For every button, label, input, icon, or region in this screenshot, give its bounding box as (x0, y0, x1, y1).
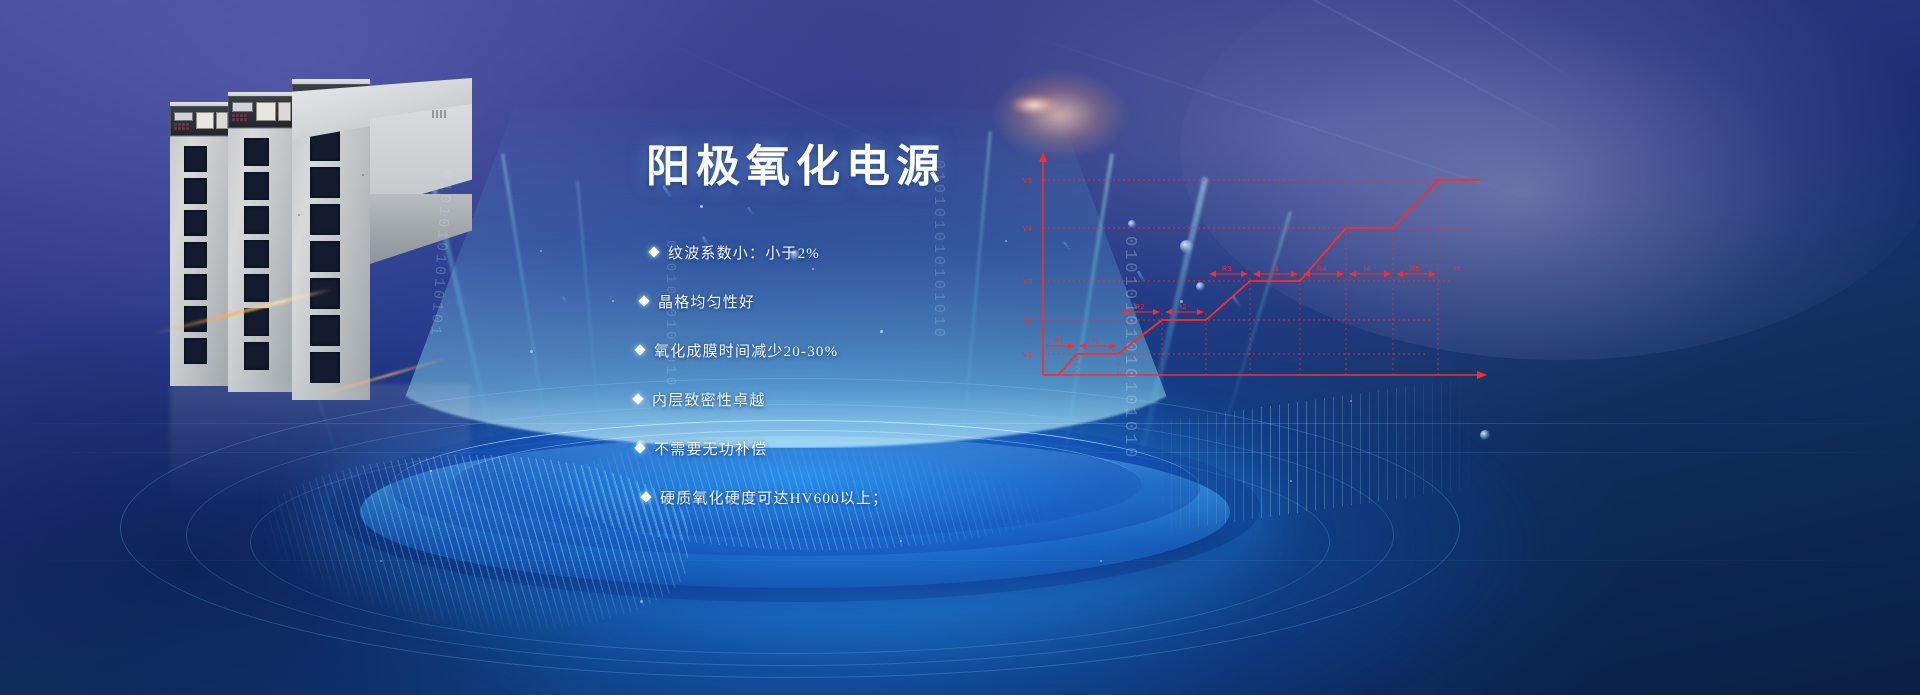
chart-seg-t1: t1 (1093, 338, 1100, 345)
light-ray (576, 181, 602, 450)
power-cabinet (228, 96, 296, 392)
diamond-bullet-icon (640, 293, 658, 310)
list-item: 不需要无功补偿 (636, 438, 1160, 459)
cabinet-logo-icon (432, 110, 446, 118)
diamond-bullet-icon (650, 244, 668, 261)
particle (612, 300, 614, 302)
list-item-label: 晶格均匀性好 (658, 291, 755, 312)
list-item-label: 纹波系数小：小于2% (668, 242, 820, 263)
lens-flare-core-icon (1010, 95, 1058, 115)
cabinet-right-face (370, 104, 472, 209)
power-cabinet-group (170, 84, 500, 504)
particle (640, 600, 643, 603)
hatch-pattern (1144, 378, 1486, 533)
particle (530, 350, 533, 353)
diamond-bullet-icon (634, 391, 652, 408)
chart-seg-r1: R1 (1054, 338, 1064, 345)
chart-seg-r4: R4 (1317, 266, 1327, 273)
diamond-bullet-icon (636, 342, 654, 359)
banner-root: 01010101010101 0101010101010 01010101010… (0, 0, 1920, 695)
chart-seg-r2: R2 (1135, 304, 1145, 311)
list-item-label: 硬质氧化硬度可达HV600以上； (660, 487, 888, 508)
list-item: 硬质氧化硬度可达HV600以上； (642, 487, 1160, 508)
chart-seg-r3: R3 (1222, 266, 1232, 273)
chart-ytick-v5: V5 (1023, 178, 1033, 185)
chart-seg-t3: t3 (1272, 266, 1279, 273)
chart-ytick-v3: V3 (1023, 279, 1033, 286)
chart-seg-t2: t2 (1180, 304, 1187, 311)
chart-ytick-v1: V1 (1023, 352, 1033, 359)
list-item-label: 不需要无功补偿 (654, 438, 767, 459)
list-item-label: 内层致密性卓越 (652, 389, 765, 410)
chart-ytick-v2: V2 (1023, 318, 1033, 325)
chart-y-arrow-icon (1039, 152, 1047, 162)
chart-x-arrow-icon (1477, 371, 1487, 379)
cabinet-reflection (170, 384, 470, 504)
particle (900, 540, 902, 542)
shard-particle (562, 296, 568, 306)
chart-seg-t4: t4 (1364, 266, 1371, 273)
chart-seg-r5: R5 (1410, 266, 1420, 273)
light-ray (501, 153, 551, 450)
light-streak (1345, 0, 1594, 95)
particle (540, 250, 542, 252)
power-cabinet (170, 106, 232, 386)
list-item-label: 氧化成膜时间减少20-30% (654, 340, 838, 361)
chart-seg-t5: t5 (1454, 266, 1461, 273)
light-streak (1204, 0, 1575, 140)
voltage-waveform-chart: V1 V2 V3 V4 V5 R1 t1 R2 t2 R3 t3 R4 t4 R… (1010, 150, 1510, 400)
bokeh-particle (1480, 430, 1490, 440)
diamond-bullet-icon (636, 440, 654, 457)
chart-svg: V1 V2 V3 V4 V5 R1 t1 R2 t2 R3 t3 R4 t4 R… (1010, 150, 1510, 400)
particle (1350, 400, 1352, 402)
cabinet-right-lower (370, 194, 472, 264)
floor-line (0, 560, 1920, 561)
particle (1290, 480, 1292, 482)
diamond-bullet-icon (642, 489, 660, 506)
chart-ytick-v4: V4 (1023, 226, 1033, 233)
